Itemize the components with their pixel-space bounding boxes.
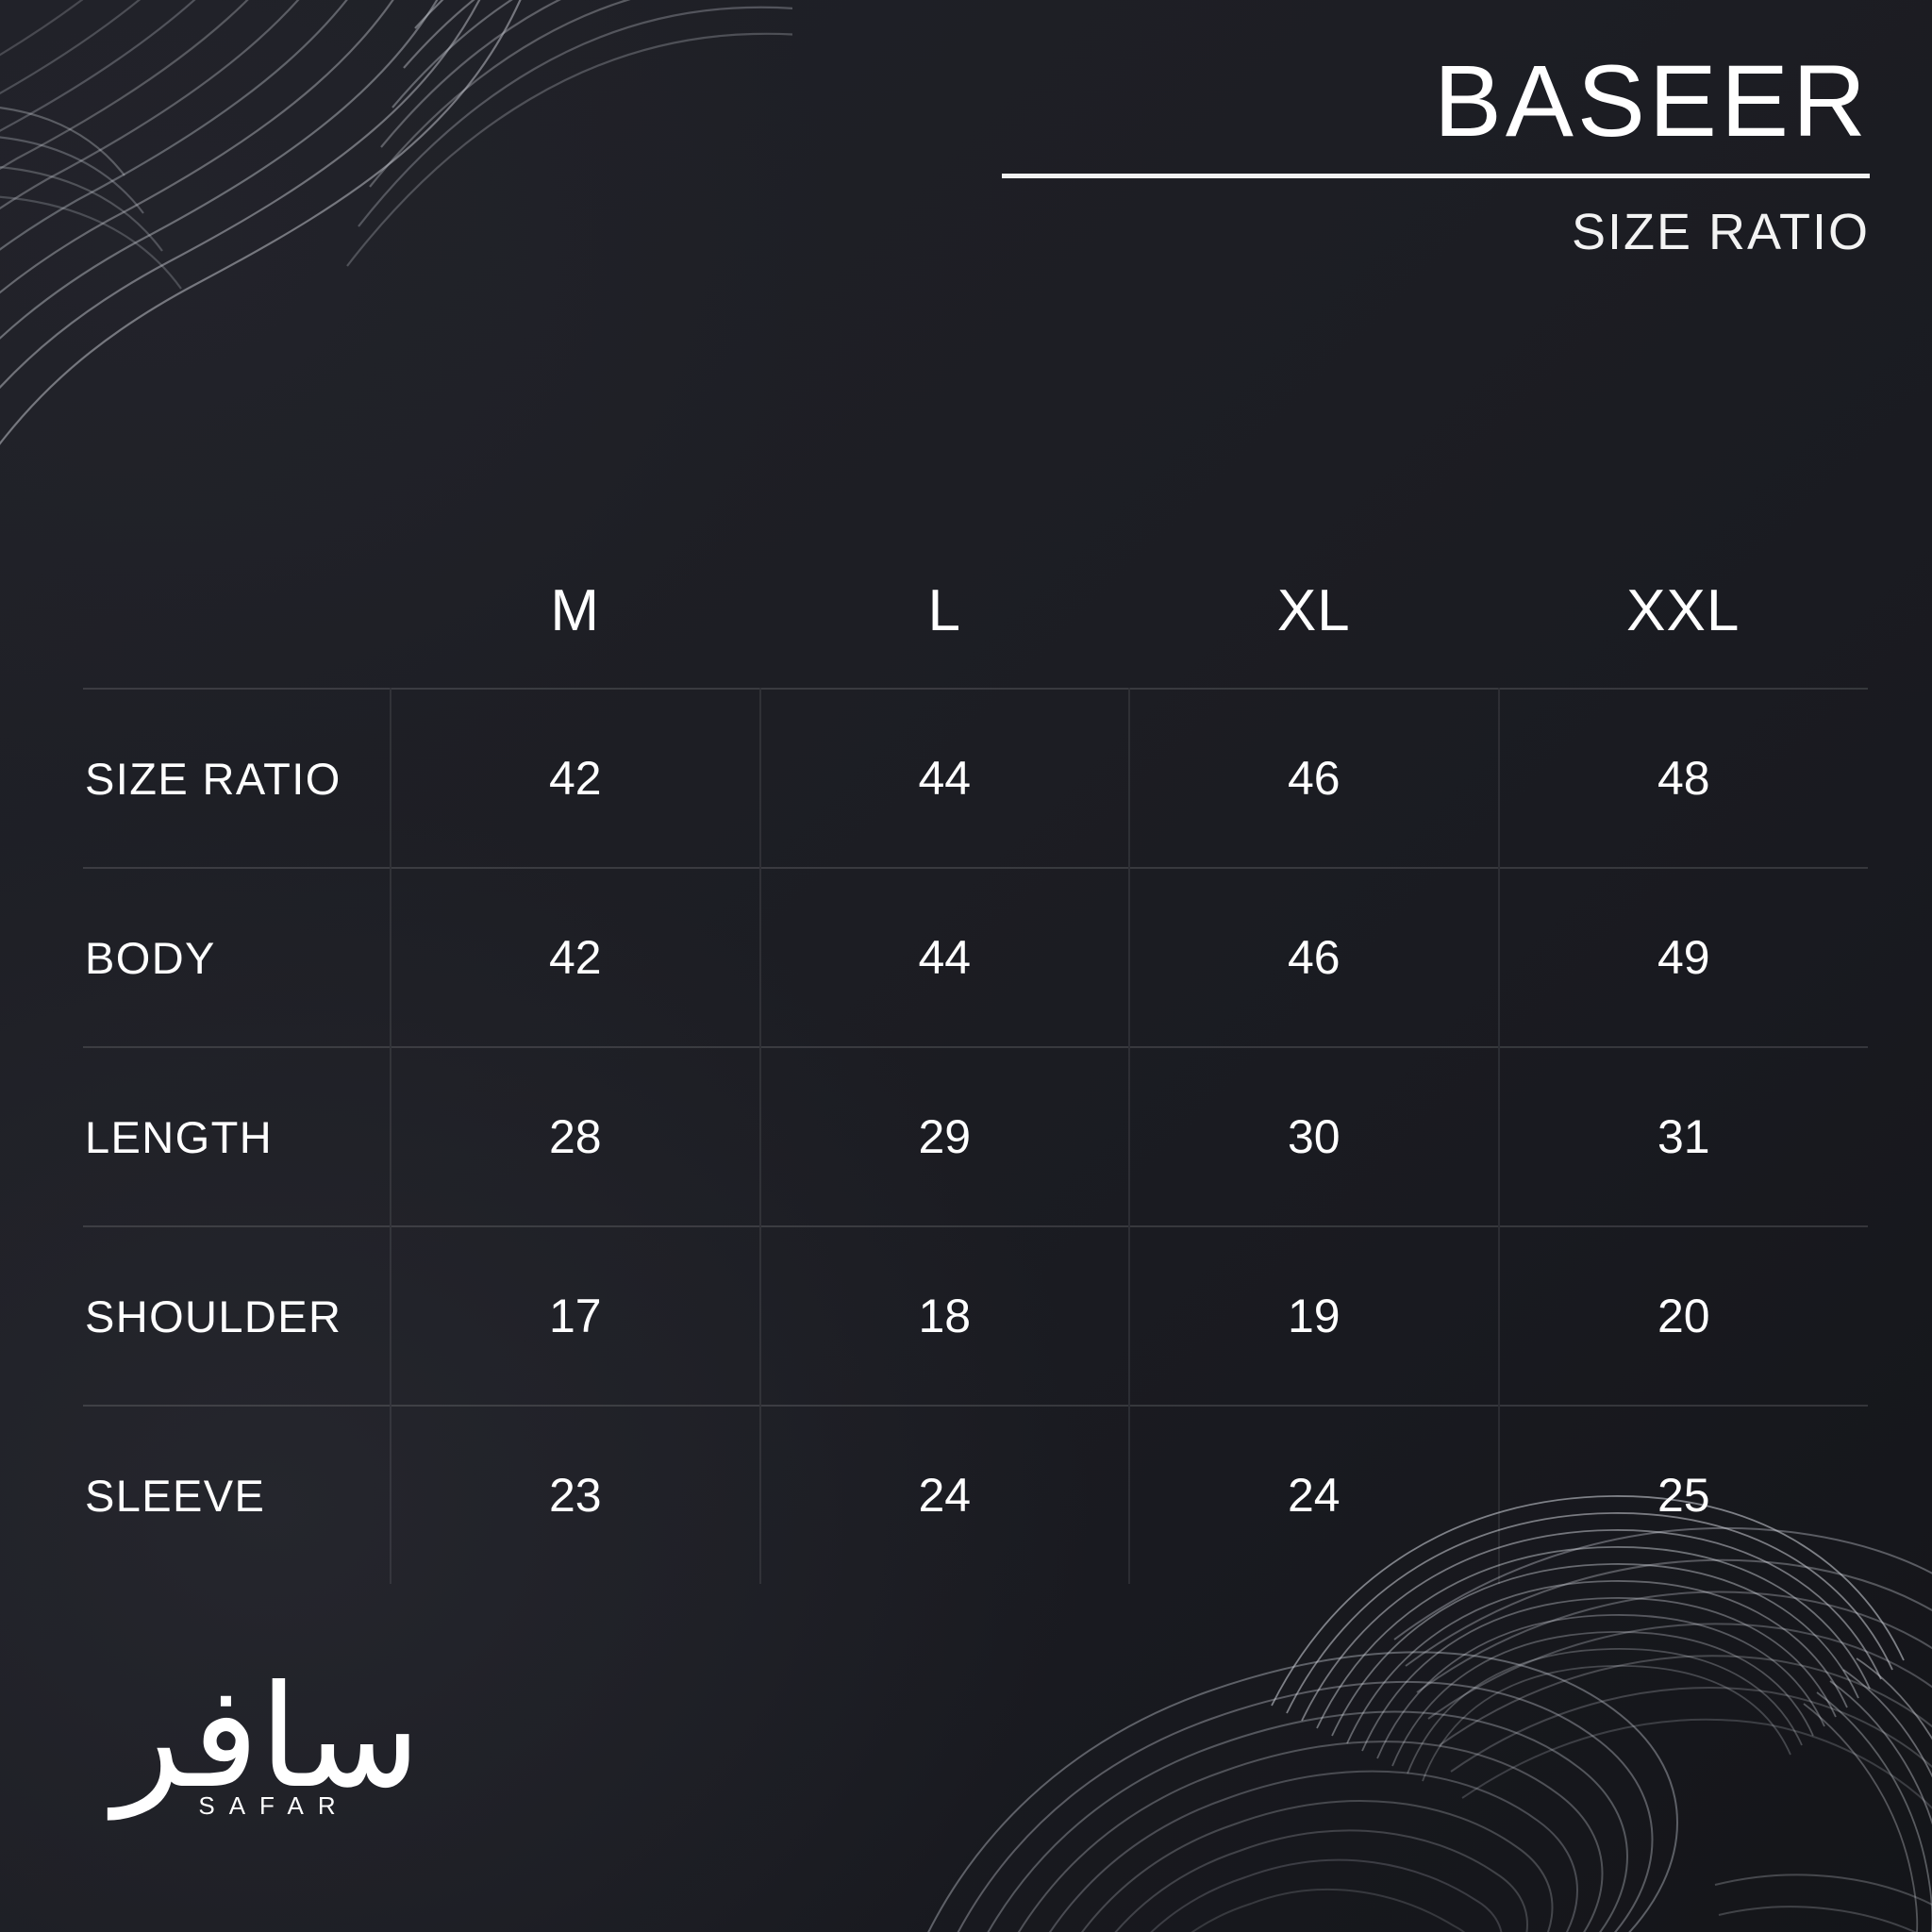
- row-label-size-ratio: SIZE RATIO: [83, 689, 391, 868]
- cell-length-xxl: 31: [1499, 1047, 1869, 1226]
- column-header-l: L: [760, 577, 1130, 689]
- cell-sleeve-l: 24: [760, 1406, 1130, 1584]
- cell-size-ratio-l: 44: [760, 689, 1130, 868]
- cell-size-ratio-xxl: 48: [1499, 689, 1869, 868]
- table-row: SIZE RATIO 42 44 46 48: [83, 689, 1868, 868]
- table-row: BODY 42 44 46 49: [83, 868, 1868, 1047]
- column-header-xxl: XXL: [1499, 577, 1869, 689]
- size-chart-page: BASEER SIZE RATIO M L XL XXL SIZE RATIO …: [0, 0, 1932, 1932]
- cell-body-l: 44: [760, 868, 1130, 1047]
- cell-sleeve-xl: 24: [1129, 1406, 1499, 1584]
- table-header-row: M L XL XXL: [83, 577, 1868, 689]
- row-label-length: LENGTH: [83, 1047, 391, 1226]
- table-row: SHOULDER 17 18 19 20: [83, 1226, 1868, 1406]
- row-label-shoulder: SHOULDER: [83, 1226, 391, 1406]
- cell-shoulder-m: 17: [391, 1226, 760, 1406]
- cell-size-ratio-m: 42: [391, 689, 760, 868]
- row-label-body: BODY: [83, 868, 391, 1047]
- table-row: LENGTH 28 29 30 31: [83, 1047, 1868, 1226]
- table-body: SIZE RATIO 42 44 46 48 BODY 42 44 46 49 …: [83, 689, 1868, 1584]
- cell-body-xl: 46: [1129, 868, 1499, 1047]
- cell-sleeve-m: 23: [391, 1406, 760, 1584]
- cell-length-l: 29: [760, 1047, 1130, 1226]
- cell-length-m: 28: [391, 1047, 760, 1226]
- cell-body-m: 42: [391, 868, 760, 1047]
- title-divider: [1002, 174, 1870, 178]
- column-header-measurement: [83, 577, 391, 689]
- header: BASEER SIZE RATIO: [1002, 49, 1870, 261]
- table-head: M L XL XXL: [83, 577, 1868, 689]
- column-header-m: M: [391, 577, 760, 689]
- page-subtitle: SIZE RATIO: [1002, 203, 1870, 261]
- cell-shoulder-xl: 19: [1129, 1226, 1499, 1406]
- cell-sleeve-xxl: 25: [1499, 1406, 1869, 1584]
- table-row: SLEEVE 23 24 24 25: [83, 1406, 1868, 1584]
- row-label-sleeve: SLEEVE: [83, 1406, 391, 1584]
- brand-logo: سافر SAFAR: [111, 1660, 423, 1821]
- column-header-xl: XL: [1129, 577, 1499, 689]
- cell-shoulder-xxl: 20: [1499, 1226, 1869, 1406]
- size-ratio-table: M L XL XXL SIZE RATIO 42 44 46 48 BODY 4…: [83, 577, 1868, 1584]
- cell-size-ratio-xl: 46: [1129, 689, 1499, 868]
- page-title: BASEER: [1002, 49, 1870, 153]
- cell-shoulder-l: 18: [760, 1226, 1130, 1406]
- cell-length-xl: 30: [1129, 1047, 1499, 1226]
- cell-body-xxl: 49: [1499, 868, 1869, 1047]
